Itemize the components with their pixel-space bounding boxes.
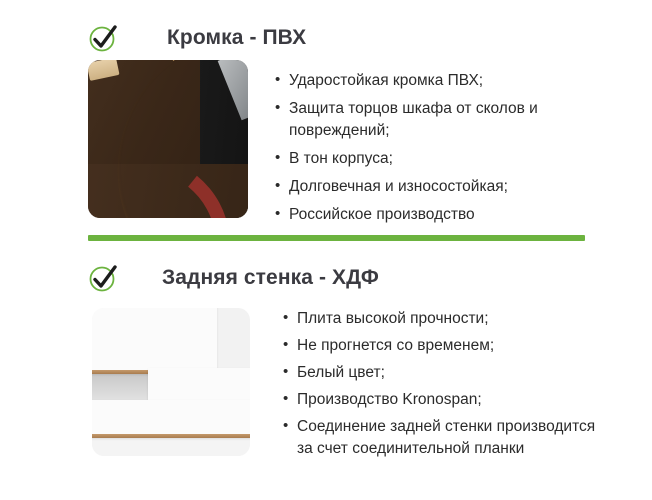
- list-item: Белый цвет;: [283, 362, 613, 384]
- list-item: Плита высокой прочности;: [283, 308, 613, 330]
- hdf-board-artwork: [92, 308, 250, 456]
- check-circle-icon: [88, 23, 118, 53]
- pvc-edge-artwork: [88, 60, 248, 218]
- product-features-page: Кромка - ПВХ Ударостойкая кромка ПВХ; За…: [0, 0, 652, 500]
- list-item: Производство Kronospan;: [283, 389, 613, 411]
- hdf-shadow: [92, 374, 148, 402]
- section-pvc-edge: Кромка - ПВХ Ударостойкая кромка ПВХ; За…: [0, 0, 652, 232]
- feature-list-pvc: Ударостойкая кромка ПВХ; Защита торцов ш…: [275, 70, 605, 232]
- list-item: Ударостойкая кромка ПВХ;: [275, 70, 605, 92]
- pvc-edge-photo: [88, 60, 248, 218]
- section-header-hdf: Задняя стенка - ХДФ: [88, 258, 379, 298]
- list-item: Соединение задней стенки производится за…: [283, 416, 613, 460]
- hdf-board-edge: [92, 434, 250, 438]
- hdf-board-bottom: [92, 400, 250, 438]
- section-title-hdf: Задняя стенка - ХДФ: [162, 266, 379, 290]
- hdf-board-top: [92, 308, 217, 374]
- section-header-pvc: Кромка - ПВХ: [88, 18, 306, 58]
- list-item: Российское производство: [275, 204, 605, 226]
- feature-list-hdf: Плита высокой прочности; Не прогнется со…: [283, 308, 613, 465]
- section-back-wall-hdf: Задняя стенка - ХДФ: [0, 248, 652, 500]
- list-item: Долговечная и износостойкая;: [275, 176, 605, 198]
- section-divider: [88, 235, 585, 241]
- list-item: Защита торцов шкафа от сколов и поврежде…: [275, 98, 605, 142]
- list-item: В тон корпуса;: [275, 148, 605, 170]
- list-item: Не прогнется со временем;: [283, 335, 613, 357]
- hdf-board-photo: [92, 308, 250, 456]
- section-title-pvc: Кромка - ПВХ: [167, 26, 306, 50]
- hdf-background-lower: [92, 438, 250, 456]
- check-circle-icon: [88, 263, 118, 293]
